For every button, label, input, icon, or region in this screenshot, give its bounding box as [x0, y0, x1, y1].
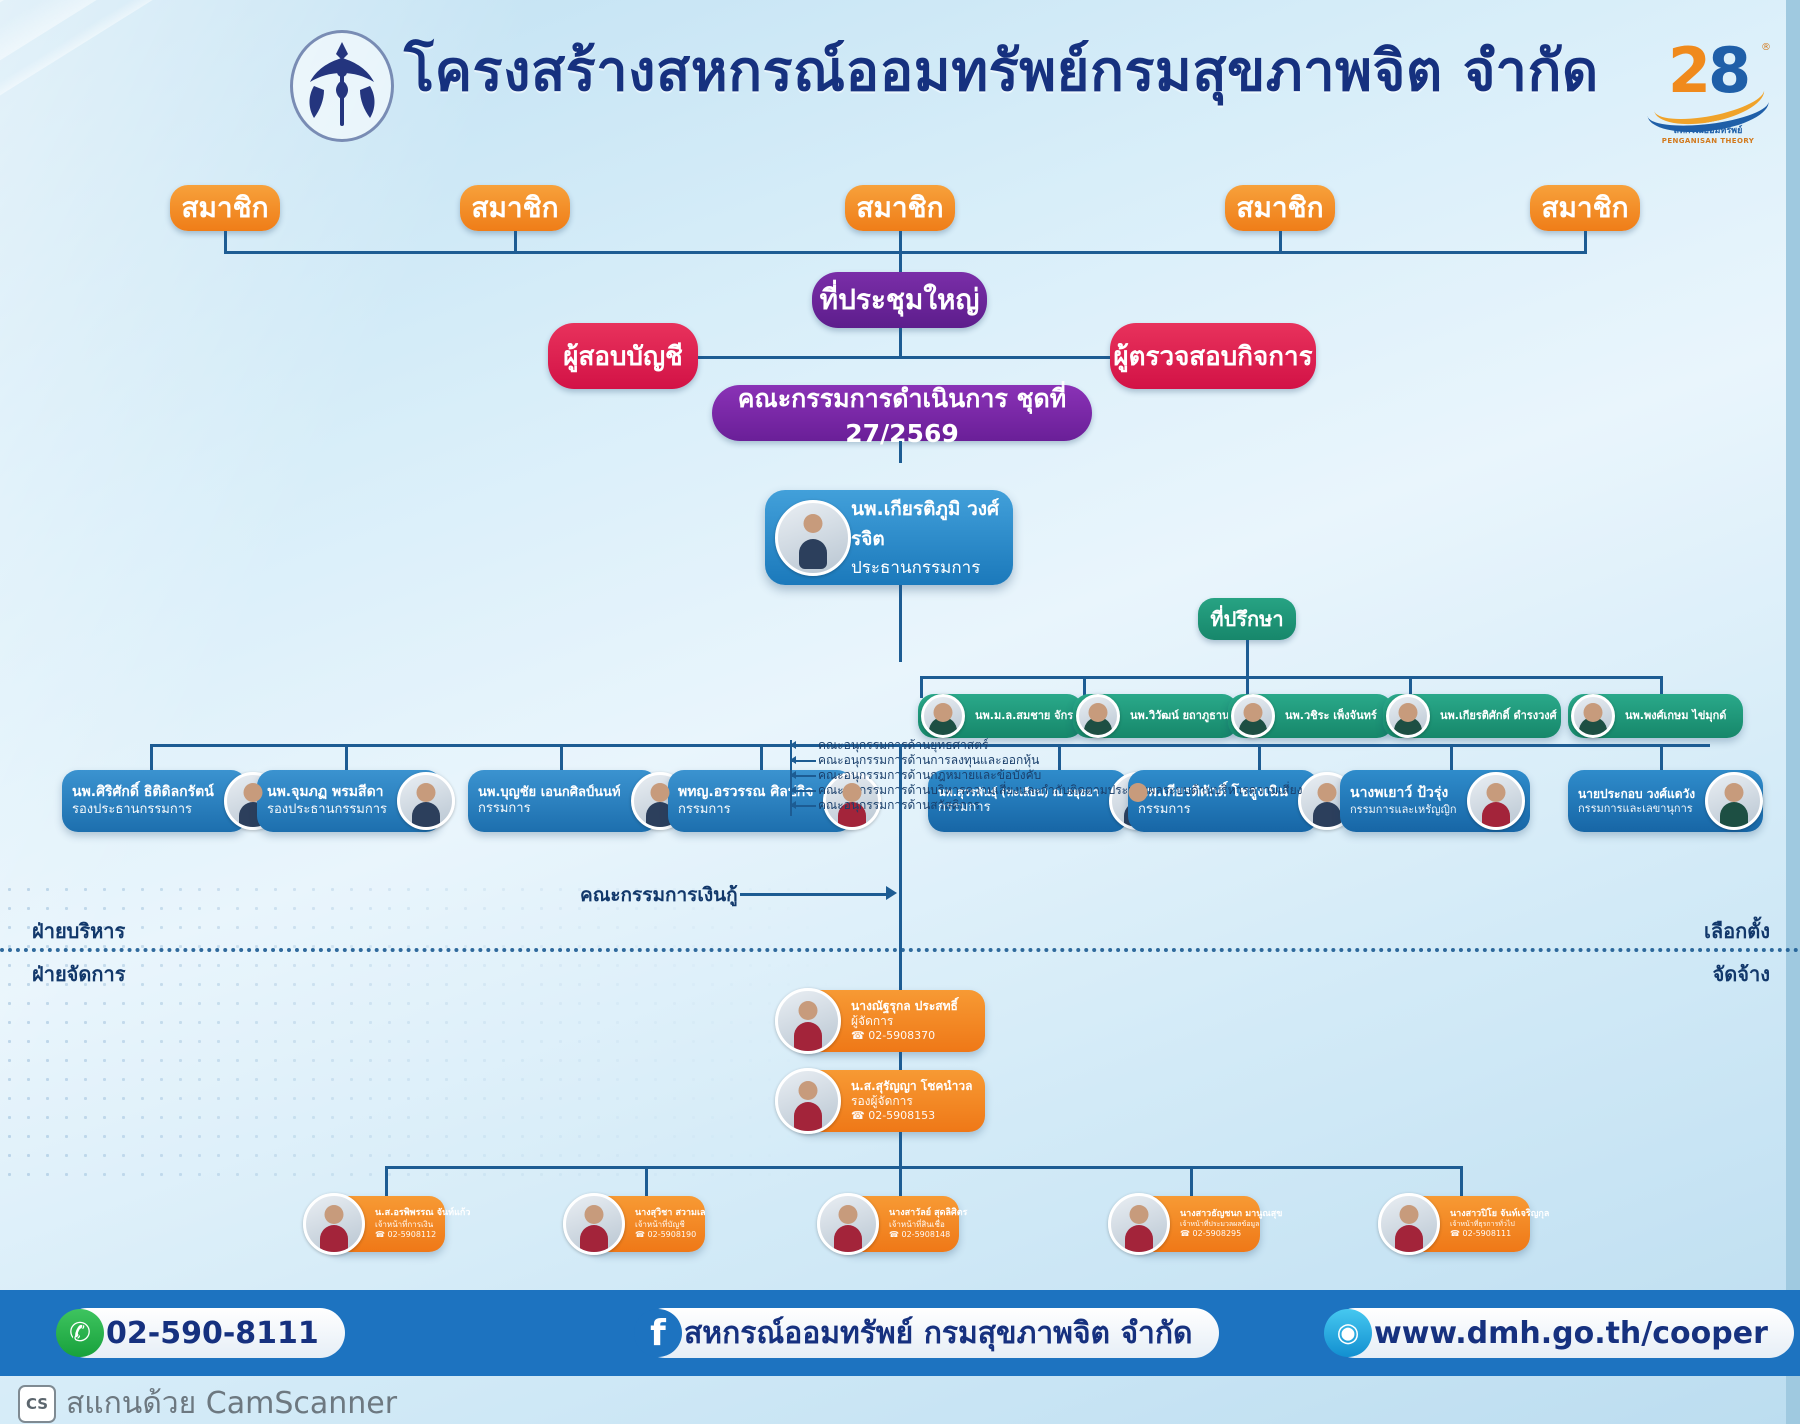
arrow-icon: [790, 790, 816, 792]
connector-staff-3: [899, 1166, 902, 1198]
connector-advisor-1: [920, 676, 923, 698]
connector-committee-2: [345, 744, 348, 772]
staff-phone: ☎ 02-5908148: [889, 1230, 967, 1240]
connector-committee-1: [150, 744, 153, 772]
staff-name: นางสุวิชา สวามเล: [635, 1208, 706, 1219]
staff-phone: ☎ 02-5908112: [375, 1230, 470, 1240]
connector-chair-spine: [899, 585, 902, 662]
committee-card-right-4[interactable]: นายประกอบ วงศ์แดวัง กรรมการและเลขานุการ: [1568, 770, 1763, 832]
connector-loan-arrow: [740, 893, 890, 896]
loan-committee-label: คณะกรรมการเงินกู้: [580, 880, 738, 910]
committee-role: รองประธานกรรมการ: [72, 802, 214, 818]
member-node-1[interactable]: สมาชิก: [170, 185, 280, 231]
avatar: [1231, 694, 1275, 738]
chairman-role: ประธานกรรมการ: [851, 554, 1013, 581]
chairman-name: นพ.เกียรติภูมิ วงศ์รจิต: [851, 494, 1013, 554]
chairman-card[interactable]: นพ.เกียรติภูมิ วงศ์รจิต ประธานกรรมการ: [765, 490, 1013, 585]
connector-staff-drop: [899, 1132, 902, 1168]
page-title: โครงสร้างสหกรณ์ออมทรัพย์กรมสุขภาพจิต จำก…: [404, 40, 1404, 104]
avatar: [775, 988, 841, 1054]
arrow-icon: [790, 745, 816, 747]
connector-manager-deputy: [899, 1052, 902, 1072]
manager-role: ผู้จัดการ: [851, 1014, 975, 1029]
staff-role: เจ้าหน้าที่การเงิน: [375, 1220, 470, 1230]
staff-name: นางสาวธัญชนก มานูณสุข: [1180, 1209, 1282, 1220]
divider-label-hire: จัดจ้าง: [1713, 958, 1770, 990]
internal-auditor-node[interactable]: ผู้ตรวจสอบกิจการ: [1110, 323, 1316, 389]
deputy-manager-card[interactable]: น.ส.สุรัญญา โชคนำวล รองผู้จัดการ ☎ 02-59…: [795, 1070, 985, 1132]
avatar: [817, 1193, 879, 1255]
staff-role: เจ้าหน้าที่บัญชี: [635, 1220, 706, 1230]
advisor-name: นพ.วชิระ เพ็งจันทร์: [1285, 709, 1383, 723]
committee-role: กรรมการและเลขานุการ: [1578, 802, 1695, 816]
staff-name: นางสาวปิโย จันท์เจริญกุล: [1450, 1209, 1549, 1220]
staff-name: น.ส.อรพิพรรณ จันท์แก้ว: [375, 1208, 470, 1219]
connector-member-5: [1584, 231, 1587, 253]
divider-label-management: ฝ่ายจัดการ: [32, 958, 125, 990]
avatar: [1076, 694, 1120, 738]
garuda-crest-icon: [290, 30, 394, 142]
globe-icon: ◉: [1324, 1309, 1372, 1357]
connector-member-4: [1279, 231, 1282, 253]
page-footer: ✆ 02-590-8111 f สหกรณ์ออมทรัพย์ กรมสุขภา…: [0, 1290, 1800, 1376]
avatar: [775, 1068, 841, 1134]
connector-member-bus: [224, 251, 1587, 254]
assembly-node[interactable]: ที่ประชุมใหญ่: [812, 272, 987, 328]
loan-arrow-head-icon: [886, 886, 897, 900]
advisor-card-4[interactable]: นพ.เกียรติศักดิ์ ดำรงวงศ์: [1383, 694, 1561, 738]
connector-management-spine: [899, 744, 902, 1008]
member-node-5[interactable]: สมาชิก: [1530, 185, 1640, 231]
logo-caption: สหกรณ์ออมทรัพย์ PENGANISAN THEORY: [1645, 126, 1771, 146]
manager-name: นางณัฐรุกล ประสทธิ์: [851, 999, 975, 1014]
avatar: [921, 694, 965, 738]
deputy-role: รองผู้จัดการ: [851, 1094, 975, 1109]
advisors-node[interactable]: ที่ปรึกษา: [1198, 598, 1296, 640]
footer-website[interactable]: ◉ www.dmh.go.th/cooper: [1330, 1308, 1794, 1358]
phone-icon: ✆: [56, 1309, 104, 1357]
subcommittee-item: คณะอนุกรรมการด้านสวัสดิการ: [790, 798, 1410, 813]
staff-phone: ☎ 02-5908111: [1450, 1229, 1549, 1239]
staff-card-4[interactable]: นางสาวธัญชนก มานูณสุข เจ้าหน้าที่ประมวลผ…: [1130, 1196, 1260, 1252]
staff-role: เจ้าหน้าที่สินเชื่อ: [889, 1220, 967, 1230]
committee-card-left-2[interactable]: นพ.จุมภฏ พรมสีดา รองประธานกรรมการ: [257, 770, 442, 832]
connector-committee-7: [1450, 744, 1453, 772]
connector-member-1: [224, 231, 227, 253]
committee-name: นพ.จุมภฏ พรมสีดา: [267, 784, 387, 802]
connector-assembly-board: [899, 328, 902, 358]
committee-name: นพ.ศิริศักดิ์ ธิติดิลกรัตน์: [72, 784, 214, 802]
arrow-icon: [790, 805, 816, 807]
advisor-card-5[interactable]: นพ.พงศ์เกษม ไข่มุกด์: [1568, 694, 1743, 738]
staff-role: เจ้าหน้าที่ประมวลผลข้อมูล: [1180, 1220, 1282, 1229]
advisor-name: นพ.พงศ์เกษม ไข่มุกด์: [1625, 709, 1733, 723]
manager-card[interactable]: นางณัฐรุกล ประสทธิ์ ผู้จัดการ ☎ 02-59083…: [795, 990, 985, 1052]
deputy-name: น.ส.สุรัญญา โชคนำวล: [851, 1079, 975, 1094]
committee-card-left-1[interactable]: นพ.ศิริศักดิ์ ธิติดิลกรัตน์ รองประธานกรร…: [62, 770, 247, 832]
connector-committee-3: [560, 744, 563, 772]
member-node-3[interactable]: สมาชิก: [845, 185, 955, 231]
committee-card-left-3[interactable]: นพ.บุญชัย เอนกศิลป์นนท์ กรรมการ: [468, 770, 658, 832]
avatar: [775, 500, 851, 576]
staff-role: เจ้าหน้าที่ธุรการทั่วไป: [1450, 1220, 1549, 1229]
subcommittee-list: คณะอนุกรรมการด้านยุทธศาสตร์ คณะอนุกรรมกา…: [790, 738, 1410, 813]
member-node-2[interactable]: สมาชิก: [460, 185, 570, 231]
avatar: [1571, 694, 1615, 738]
arrow-icon: [790, 760, 816, 762]
connector-member-2: [514, 231, 517, 253]
committee-name: นายประกอบ วงศ์แดวัง: [1578, 787, 1695, 802]
avatar: [397, 772, 455, 830]
anniversary-28-logo: ® 28 สหกรณ์ออมทรัพย์ PENGANISAN THEORY: [1645, 34, 1771, 150]
page-right-edge: [1786, 0, 1800, 1424]
camscanner-watermark: CS สแกนด้วย CamScanner: [18, 1380, 397, 1424]
connector-advisors-bus: [920, 676, 1660, 679]
facebook-icon: f: [634, 1309, 682, 1357]
avatar: [1108, 1193, 1170, 1255]
committee-name: นพ.บุญชัย เอนกศิลป์นนท์: [478, 785, 621, 801]
board-node[interactable]: คณะกรรมการดำเนินการ ชุดที่ 27/2569: [712, 385, 1092, 441]
staff-name: นางสาวัลย์ สุดลิศิตร: [889, 1208, 967, 1219]
connector-member-3: [899, 231, 902, 253]
divider-label-executive: ฝ่ายบริหาร: [32, 915, 125, 947]
connector-advisors-drop: [1246, 640, 1249, 678]
page-header: โครงสร้างสหกรณ์ออมทรัพย์กรมสุขภาพจิต จำก…: [0, 0, 1800, 160]
camscanner-badge-icon: CS: [18, 1385, 56, 1423]
advisor-name: นพ.เกียรติศักดิ์ ดำรงวงศ์: [1440, 709, 1557, 723]
avatar: [1378, 1193, 1440, 1255]
divider-label-election: เลือกตั้ง: [1704, 915, 1770, 947]
avatar: [303, 1193, 365, 1255]
connector-staff-bus: [385, 1166, 1460, 1169]
connector-board-chair: [899, 441, 902, 463]
auditor-node[interactable]: ผู้สอบบัญชี: [548, 323, 698, 389]
footer-facebook[interactable]: f สหกรณ์ออมทรัพย์ กรมสุขภาพจิต จำกัด: [640, 1308, 1219, 1358]
committee-role: กรรมการ: [478, 801, 621, 817]
connector-committee-8: [1660, 744, 1663, 772]
connector-committee-4: [760, 744, 763, 772]
member-node-4[interactable]: สมาชิก: [1225, 185, 1335, 231]
advisor-card-3[interactable]: นพ.วชิระ เพ็งจันทร์: [1228, 694, 1393, 738]
advisor-card-2[interactable]: นพ.วิวัฒน์ ยถาภูธานนท์: [1073, 694, 1238, 738]
deputy-phone: ☎ 02-5908153: [851, 1109, 975, 1123]
footer-phone[interactable]: ✆ 02-590-8111: [62, 1308, 345, 1358]
avatar: [563, 1193, 625, 1255]
arrow-icon: [790, 775, 816, 777]
staff-card-2[interactable]: นางสุวิชา สวามเล เจ้าหน้าที่บัญชี ☎ 02-5…: [585, 1196, 705, 1252]
avatar: [1705, 772, 1763, 830]
staff-card-1[interactable]: น.ส.อรพิพรรณ จันท์แก้ว เจ้าหน้าที่การเงิ…: [325, 1196, 445, 1252]
manager-phone: ☎ 02-5908370: [851, 1029, 975, 1043]
avatar: [1467, 772, 1525, 830]
connector-staff-4: [1190, 1166, 1193, 1198]
connector-staff-5: [1460, 1166, 1463, 1198]
committee-role: รองประธานกรรมการ: [267, 802, 387, 818]
org-chart-page: โครงสร้างสหกรณ์ออมทรัพย์กรมสุขภาพจิต จำก…: [0, 0, 1800, 1424]
staff-phone: ☎ 02-5908190: [635, 1230, 706, 1240]
camscanner-text: สแกนด้วย CamScanner: [66, 1380, 397, 1424]
avatar: [1386, 694, 1430, 738]
connector-staff-2: [645, 1166, 648, 1198]
connector-staff-1: [385, 1166, 388, 1198]
staff-card-3[interactable]: นางสาวัลย์ สุดลิศิตร เจ้าหน้าที่สินเชื่อ…: [839, 1196, 959, 1252]
staff-card-5[interactable]: นางสาวปิโย จันท์เจริญกุล เจ้าหน้าที่ธุรก…: [1400, 1196, 1530, 1252]
advisor-card-1[interactable]: นพ.ม.ล.สมชาย จักรพันธุ์: [918, 694, 1083, 738]
staff-phone: ☎ 02-5908295: [1180, 1229, 1282, 1239]
